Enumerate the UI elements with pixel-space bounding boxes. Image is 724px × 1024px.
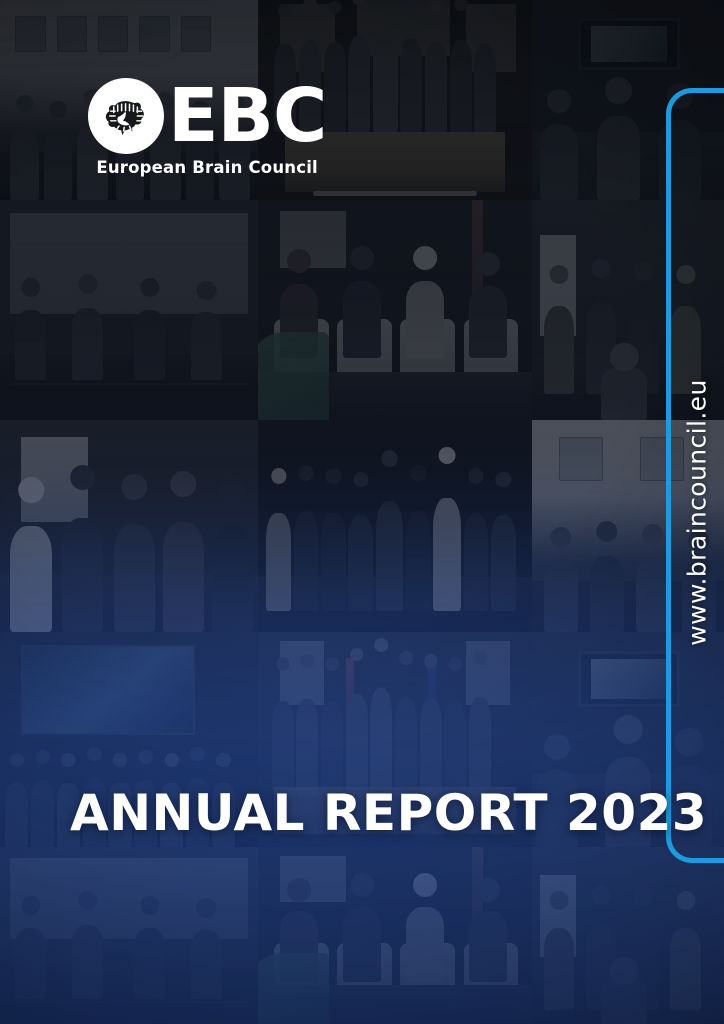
logo-organisation-name: European Brain Council <box>96 158 318 177</box>
report-cover: EBC European Brain Council www.braincoun… <box>0 0 724 1024</box>
logo-circle <box>88 78 164 154</box>
page-title: ANNUAL REPORT 2023 <box>70 788 707 838</box>
brain-icon <box>98 88 154 144</box>
mosaic-tile <box>0 847 258 1024</box>
mosaic-tile <box>0 200 258 420</box>
mosaic-tile <box>258 200 532 420</box>
mosaic-tile <box>0 420 258 632</box>
mosaic-tile <box>258 847 532 1024</box>
mosaic-tile <box>258 420 532 632</box>
website-url[interactable]: www.braincouncil.eu <box>670 0 724 1024</box>
ebc-logo-lockup: EBC European Brain Council <box>88 78 326 177</box>
website-url-text: www.braincouncil.eu <box>683 379 712 645</box>
logo-wordmark: EBC <box>168 86 326 147</box>
